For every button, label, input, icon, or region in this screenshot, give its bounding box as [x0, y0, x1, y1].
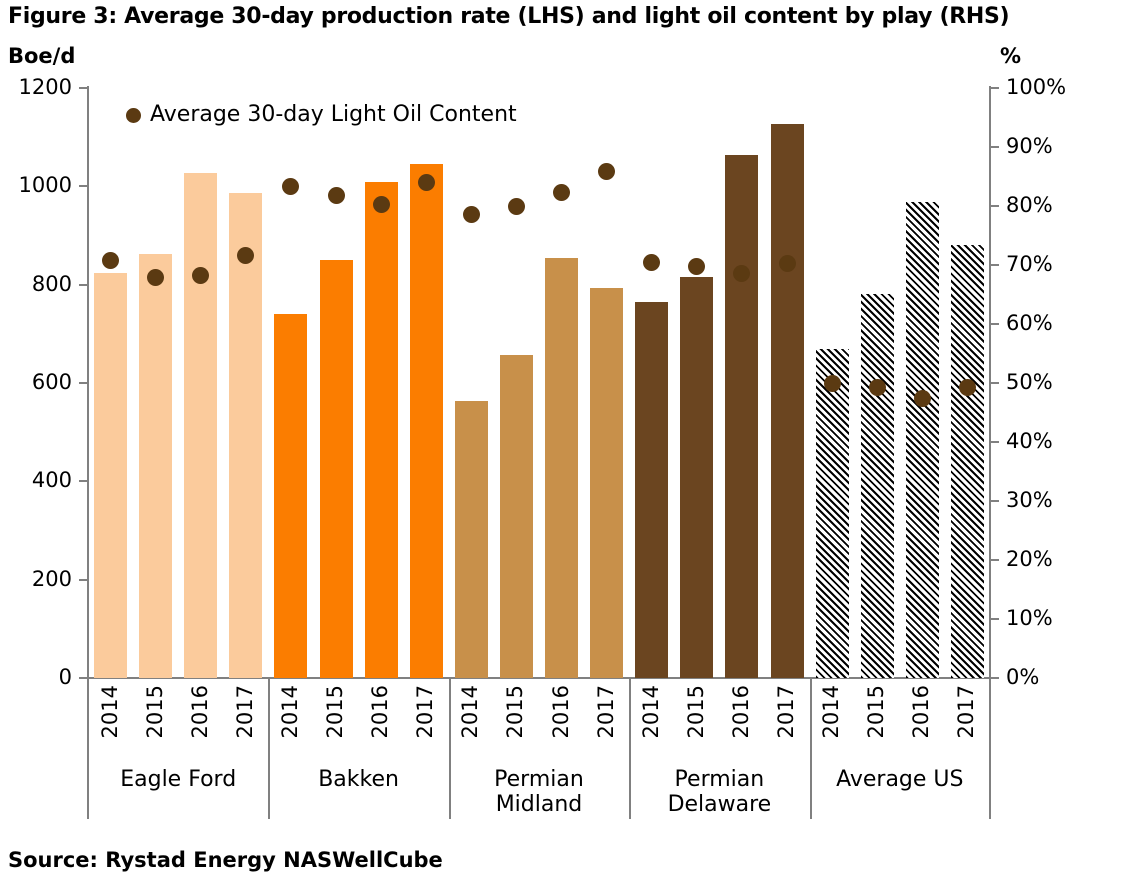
- light-oil-content-dot: [914, 390, 931, 407]
- light-oil-content-dot: [959, 379, 976, 396]
- x-axis-year-label: 2016: [911, 685, 932, 738]
- x-axis-group-label: Permian Midland: [449, 767, 629, 817]
- right-axis-tick-label: 60%: [1006, 313, 1076, 334]
- bar: [410, 164, 443, 678]
- left-axis-tick: [79, 87, 88, 89]
- right-axis-tick-label: 90%: [1006, 136, 1076, 157]
- x-axis-left-edge: [87, 679, 89, 819]
- x-axis-year-label: 2014: [641, 685, 662, 738]
- light-oil-content-dot: [102, 252, 119, 269]
- x-axis-group-separator: [268, 679, 270, 819]
- bar: [229, 193, 262, 678]
- light-oil-content-dot: [688, 258, 705, 275]
- bar: [725, 155, 758, 678]
- x-axis-year-label: 2017: [956, 685, 977, 738]
- x-axis-year-label: 2015: [145, 685, 166, 738]
- right-axis-tick-label: 70%: [1006, 254, 1076, 275]
- bar: [320, 260, 353, 678]
- right-axis-tick-label: 10%: [1006, 608, 1076, 629]
- x-axis-group-separator: [449, 679, 451, 819]
- x-axis-group-label: Average US: [810, 767, 990, 792]
- right-axis-tick-label: 100%: [1006, 77, 1076, 98]
- x-axis-year-label: 2017: [235, 685, 256, 738]
- bar: [139, 254, 172, 678]
- light-oil-content-dot: [463, 206, 480, 223]
- right-axis-tick: [990, 87, 999, 89]
- bar: [94, 273, 127, 678]
- left-axis-unit-label: Boe/d: [8, 44, 75, 68]
- x-axis-right-edge: [989, 679, 991, 819]
- x-axis-year-label: 2014: [460, 685, 481, 738]
- x-axis-group-separator: [810, 679, 812, 819]
- left-axis-tick-label: 400: [12, 470, 72, 491]
- right-axis-tick-label: 40%: [1006, 431, 1076, 452]
- x-axis-year-label: 2017: [415, 685, 436, 738]
- bar: [861, 294, 894, 678]
- x-axis-year-label: 2016: [370, 685, 391, 738]
- right-axis-tick: [990, 441, 999, 443]
- x-axis-year-label: 2015: [686, 685, 707, 738]
- light-oil-content-dot: [418, 174, 435, 191]
- x-axis-year-label: 2014: [280, 685, 301, 738]
- right-axis-tick-label: 0%: [1006, 667, 1076, 688]
- light-oil-content-dot: [328, 187, 345, 204]
- light-oil-content-dot: [643, 254, 660, 271]
- x-axis-year-label: 2016: [190, 685, 211, 738]
- right-axis-tick-label: 80%: [1006, 195, 1076, 216]
- x-axis-year-label: 2016: [731, 685, 752, 738]
- left-axis-tick-label: 0: [12, 667, 72, 688]
- x-axis-year-label: 2017: [596, 685, 617, 738]
- right-axis-tick: [990, 323, 999, 325]
- source-note: Source: Rystad Energy NASWellCube: [8, 848, 443, 872]
- left-axis-tick-label: 600: [12, 372, 72, 393]
- x-axis-group-label: Bakken: [268, 767, 448, 792]
- light-oil-content-dot: [824, 375, 841, 392]
- x-axis-year-label: 2016: [551, 685, 572, 738]
- legend-marker-dot-icon: [126, 108, 141, 123]
- x-axis: 2014201520162017Eagle Ford20142015201620…: [88, 679, 990, 819]
- light-oil-content-dot: [779, 255, 796, 272]
- left-axis-tick: [79, 480, 88, 482]
- bar: [816, 349, 849, 678]
- bar: [455, 401, 488, 678]
- bar: [274, 314, 307, 678]
- bar: [906, 202, 939, 678]
- left-axis-tick: [79, 284, 88, 286]
- figure-title: Figure 3: Average 30-day production rate…: [8, 4, 1118, 29]
- right-axis-tick: [990, 500, 999, 502]
- bar: [500, 355, 533, 678]
- light-oil-content-dot: [553, 184, 570, 201]
- right-axis-unit-label: %: [1000, 44, 1021, 68]
- light-oil-content-dot: [508, 198, 525, 215]
- left-axis-tick: [79, 185, 88, 187]
- left-axis-tick: [79, 579, 88, 581]
- x-axis-group-label: Permian Delaware: [629, 767, 809, 817]
- light-oil-content-dot: [869, 379, 886, 396]
- right-axis-tick: [990, 382, 999, 384]
- right-axis-tick: [990, 205, 999, 207]
- right-axis-tick-label: 50%: [1006, 372, 1076, 393]
- right-axis-tick: [990, 146, 999, 148]
- light-oil-content-dot: [282, 178, 299, 195]
- left-axis-tick-label: 200: [12, 569, 72, 590]
- left-axis-tick-label: 1000: [12, 175, 72, 196]
- bar: [680, 277, 713, 678]
- x-axis-year-label: 2014: [100, 685, 121, 738]
- x-axis-group-label: Eagle Ford: [88, 767, 268, 792]
- bar: [590, 288, 623, 678]
- bar: [545, 258, 578, 678]
- x-axis-group-separator: [629, 679, 631, 819]
- legend-label: Average 30-day Light Oil Content: [150, 104, 517, 126]
- x-axis-year-label: 2015: [325, 685, 346, 738]
- right-axis-tick: [990, 618, 999, 620]
- light-oil-content-dot: [598, 163, 615, 180]
- x-axis-year-label: 2015: [505, 685, 526, 738]
- x-axis-year-label: 2014: [821, 685, 842, 738]
- light-oil-content-dot: [373, 196, 390, 213]
- bar: [951, 245, 984, 678]
- right-axis-tick: [990, 264, 999, 266]
- right-axis-tick-label: 30%: [1006, 490, 1076, 511]
- left-axis-tick-label: 800: [12, 274, 72, 295]
- right-axis-tick: [990, 677, 999, 679]
- right-axis-tick: [990, 559, 999, 561]
- bar: [184, 173, 217, 678]
- legend: Average 30-day Light Oil Content: [126, 104, 517, 126]
- bar: [635, 302, 668, 678]
- left-axis-tick-label: 1200: [12, 77, 72, 98]
- right-axis-tick-label: 20%: [1006, 549, 1076, 570]
- plot-area: [88, 88, 990, 678]
- x-axis-year-label: 2015: [866, 685, 887, 738]
- x-axis-year-label: 2017: [776, 685, 797, 738]
- left-axis-tick: [79, 382, 88, 384]
- bar: [771, 124, 804, 678]
- bar: [365, 182, 398, 678]
